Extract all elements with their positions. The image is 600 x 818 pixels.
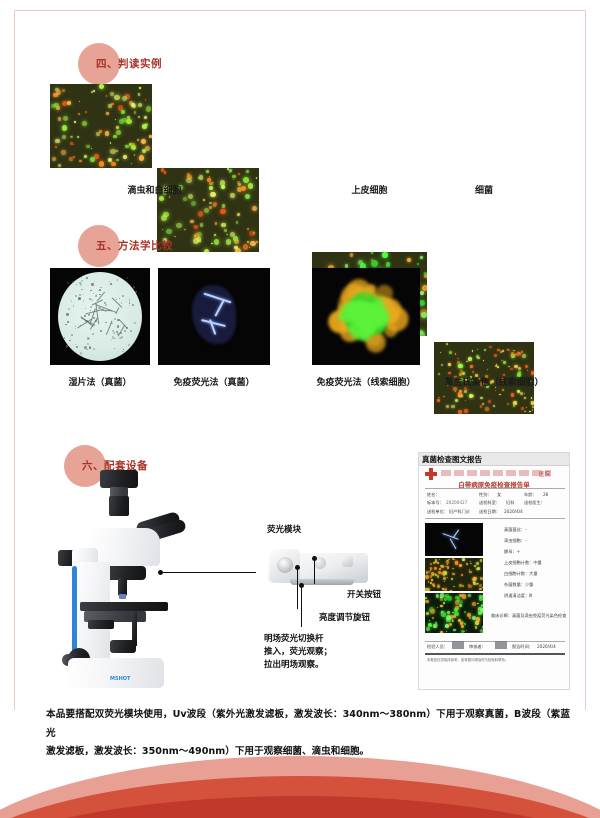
micrograph-particle <box>447 577 448 578</box>
micrograph-particle <box>475 626 478 629</box>
micrograph-particle <box>420 291 424 295</box>
micrograph-particle <box>110 92 114 96</box>
callout-line-power <box>314 558 315 584</box>
micrograph-particle <box>440 605 442 607</box>
report-header-title: 真菌检查图文报告 <box>419 453 569 466</box>
micrograph-particle <box>256 241 259 244</box>
report-result-row: 滴虫细胞：- <box>504 538 526 544</box>
micrograph-particle <box>461 630 464 633</box>
micrograph-particle <box>247 228 249 230</box>
micrograph-particle <box>479 584 481 586</box>
micrograph-particle <box>477 603 478 604</box>
wetmount-debris <box>71 301 72 302</box>
micrograph-particle <box>480 559 483 562</box>
caption-trichomonas-wbc: 滴虫和白细胞 <box>50 183 259 196</box>
micrograph-particle <box>487 369 488 370</box>
micrograph-particle <box>93 90 95 92</box>
micrograph-particle <box>420 256 423 259</box>
micrograph-particle <box>62 125 67 130</box>
report-divider-thick <box>425 653 565 655</box>
micrograph-particle <box>203 199 205 201</box>
module-lens-icon <box>277 557 293 573</box>
micrograph-particle <box>461 574 463 576</box>
wetmount-debris <box>133 284 134 285</box>
micrograph-particle <box>119 119 124 124</box>
micrograph-particle <box>430 609 435 614</box>
micrograph-particle <box>86 145 89 148</box>
micrograph-particle <box>480 405 482 407</box>
micrograph-particle <box>466 630 467 631</box>
micrograph-particle <box>84 155 87 158</box>
report-result-row: 上皮细胞计数：中量 <box>504 560 542 566</box>
micrograph-particle <box>476 622 478 624</box>
micrograph-particle <box>502 389 504 391</box>
micrograph-particle <box>358 260 363 265</box>
micrograph-particle <box>451 578 453 580</box>
wetmount-debris <box>110 283 112 285</box>
micrograph-particle <box>468 594 471 597</box>
wetmount-debris <box>92 333 94 335</box>
micrograph-particle <box>450 590 452 591</box>
report-result-row: 真菌菌丝：- <box>504 527 526 533</box>
micrograph-particle <box>131 145 136 150</box>
micrograph-particle <box>469 617 471 619</box>
micrograph-particle <box>232 175 236 179</box>
wetmount-debris <box>129 302 130 303</box>
hospital-name-redacted <box>441 470 551 476</box>
caption-gram-clue-cell: 革兰氏染色（线索细胞） <box>428 375 560 388</box>
wetmount-debris <box>114 338 116 340</box>
micrograph-particle <box>449 351 452 354</box>
micrograph-particle <box>438 397 440 399</box>
wetmount-debris <box>116 331 118 333</box>
micrograph-particle <box>425 597 427 599</box>
micrograph-particle <box>111 162 115 166</box>
micrograph-wetmount-fungus <box>50 268 150 365</box>
micrograph-particle <box>116 159 119 162</box>
micrograph-particle <box>488 400 491 403</box>
micrograph-particle <box>426 627 431 632</box>
micrograph-particle <box>515 354 516 355</box>
section-header-5: 五、方法学比较 <box>96 238 173 253</box>
micrograph-particle <box>441 364 443 366</box>
report-field-label: 性别： <box>479 492 492 498</box>
micrograph-trichomonas-wbc-1 <box>50 84 152 168</box>
wetmount-field <box>58 272 142 361</box>
wetmount-debris <box>78 297 81 300</box>
micrograph-particle <box>67 101 71 105</box>
micrograph-particle <box>198 211 204 217</box>
micrograph-particle <box>58 117 61 120</box>
micrograph-particle <box>243 177 249 183</box>
micrograph-particle <box>480 397 482 399</box>
report-footer-label: 检验人员： <box>427 644 448 650</box>
micrograph-particle <box>484 349 486 351</box>
micrograph-particle <box>482 587 483 588</box>
micrograph-particle <box>511 352 515 356</box>
micrograph-particle <box>58 164 61 167</box>
micrograph-particle <box>247 241 249 243</box>
micrograph-particle <box>462 594 466 598</box>
wetmount-debris <box>123 349 124 350</box>
wetmount-debris <box>114 348 115 349</box>
micrograph-particle <box>106 95 107 96</box>
micrograph-particle <box>110 142 111 143</box>
micrograph-particle <box>437 575 440 578</box>
micrograph-particle <box>531 397 533 399</box>
micrograph-particle <box>455 353 457 355</box>
micrograph-particle <box>220 209 225 214</box>
microscope-objective-tip <box>119 594 126 599</box>
wetmount-debris <box>100 330 102 332</box>
micrograph-particle <box>446 631 448 633</box>
micrograph-particle <box>468 389 469 390</box>
micrograph-particle <box>69 157 72 160</box>
wetmount-debris <box>122 295 124 297</box>
micrograph-particle <box>433 585 435 587</box>
micrograph-particle <box>142 149 147 154</box>
micrograph-particle <box>465 400 466 401</box>
micrograph-particle <box>459 564 462 567</box>
report-result-row: 酵母：+ <box>504 549 520 555</box>
micrograph-particle <box>452 620 454 622</box>
micrograph-particle <box>371 260 378 267</box>
micrograph-particle <box>447 566 449 568</box>
micrograph-particle <box>489 346 491 348</box>
callout-line-lever <box>301 585 302 627</box>
micrograph-particle <box>476 617 480 621</box>
wetmount-debris <box>72 281 74 283</box>
micrograph-particle <box>443 574 445 576</box>
micrograph-particle <box>439 568 441 570</box>
micrograph-particle <box>468 357 472 361</box>
micrograph-particle <box>190 220 193 223</box>
report-result-row: 杂菌数量：少量 <box>504 582 533 588</box>
micrograph-particle <box>499 394 501 396</box>
micrograph-particle <box>145 99 146 100</box>
micrograph-particle <box>503 361 506 364</box>
micrograph-particle <box>139 155 144 160</box>
micrograph-particle <box>445 624 449 628</box>
wetmount-debris <box>112 330 113 331</box>
microscope-stage <box>80 602 168 611</box>
micrograph-particle <box>126 119 131 124</box>
report-comment: 临床诊断：真菌及滴虫免疫荧光染色检查 <box>491 613 566 619</box>
wetmount-debris <box>80 352 83 355</box>
module-power-switch <box>342 556 353 567</box>
micrograph-particle <box>459 364 463 368</box>
micrograph-particle <box>430 567 433 570</box>
wetmount-debris <box>124 330 126 332</box>
micrograph-if-clue-cell <box>312 268 420 365</box>
wetmount-debris <box>122 351 123 352</box>
micrograph-particle <box>134 154 135 155</box>
micrograph-particle <box>350 253 353 256</box>
micrograph-particle <box>521 407 524 410</box>
micrograph-particle <box>85 111 87 113</box>
micrograph-particle <box>121 110 125 114</box>
wetmount-debris <box>76 284 77 285</box>
micrograph-particle <box>482 626 483 628</box>
micrograph-particle <box>449 623 453 627</box>
micrograph-particle <box>145 146 150 151</box>
micrograph-particle <box>464 611 465 612</box>
micrograph-particle <box>73 144 74 145</box>
micrograph-particle <box>144 116 147 119</box>
micrograph-particle <box>457 358 459 360</box>
lever-label-line1: 明场荧光切换杆 <box>264 633 332 646</box>
micrograph-particle <box>99 84 104 89</box>
micrograph-particle <box>511 393 515 397</box>
micrograph-particle <box>495 390 496 391</box>
micrograph-particle <box>524 397 526 399</box>
micrograph-particle <box>455 561 458 564</box>
micrograph-particle <box>444 598 447 601</box>
micrograph-particle <box>91 148 92 149</box>
micrograph-particle <box>176 223 182 229</box>
micrograph-particle <box>250 241 256 247</box>
report-result-row: 白细胞计数：大量 <box>504 571 538 577</box>
micrograph-particle <box>479 597 483 601</box>
micrograph-particle <box>55 139 59 143</box>
wetmount-debris <box>99 289 101 291</box>
wetmount-debris <box>67 321 68 322</box>
micrograph-particle <box>476 562 479 565</box>
callout-line-brightness <box>297 567 298 609</box>
micrograph-particle <box>493 405 495 407</box>
micrograph-particle <box>99 130 102 133</box>
micrograph-particle <box>440 565 441 566</box>
micrograph-particle <box>126 145 127 146</box>
wetmount-debris <box>93 348 95 350</box>
micrograph-particle <box>187 173 190 176</box>
micrograph-particle <box>166 229 172 235</box>
micrograph-particle <box>532 409 533 410</box>
micrograph-particle <box>431 579 433 581</box>
micrograph-particle <box>510 368 512 370</box>
micrograph-particle <box>211 243 213 245</box>
micrograph-particle <box>444 588 447 591</box>
micrograph-particle <box>507 403 509 405</box>
micrograph-particle <box>468 585 472 589</box>
report-disclaimer: 本报告仅供临床参考，如有疑问请及时与检验科联系。 <box>427 657 508 662</box>
micrograph-particle <box>221 223 225 227</box>
micrograph-particle <box>472 602 476 606</box>
micrograph-particle <box>447 564 448 565</box>
micrograph-particle <box>455 399 458 402</box>
micrograph-particle <box>74 121 76 123</box>
micrograph-particle <box>115 119 116 120</box>
wetmount-debris <box>112 336 114 338</box>
report-field-label: 年龄： <box>524 492 537 498</box>
micrograph-particle <box>437 399 439 401</box>
wetmount-debris <box>79 282 81 284</box>
micrograph-particle <box>485 407 488 410</box>
micrograph-particle <box>446 405 449 408</box>
micrograph-particle <box>436 594 438 596</box>
micrograph-particle <box>441 612 446 617</box>
micrograph-particle <box>204 249 209 252</box>
micrograph-particle <box>55 146 57 148</box>
report-micrograph-bacteria <box>425 558 483 591</box>
caption-bacteria: 细菌 <box>434 183 534 196</box>
micrograph-particle <box>461 625 464 628</box>
micrograph-particle <box>452 558 454 560</box>
micrograph-particle <box>514 365 518 369</box>
report-micrograph-if-fungus <box>425 523 483 556</box>
report-field-label: 送检医生： <box>524 500 545 506</box>
micrograph-particle <box>459 604 462 607</box>
caption-if-fungus: 免疫荧光法（真菌） <box>152 375 276 388</box>
micrograph-particle <box>138 103 142 107</box>
micrograph-particle <box>206 170 209 173</box>
micrograph-particle <box>469 394 473 398</box>
micrograph-particle <box>162 229 163 230</box>
micrograph-particle <box>382 252 387 257</box>
caption-epithelial-cells: 上皮细胞 <box>312 183 427 196</box>
callout-label-power: 开关按钮 <box>347 589 381 602</box>
report-panel-header: 真菌检查图文报告 <box>419 453 569 466</box>
micrograph-particle <box>453 586 454 587</box>
micrograph-particle <box>525 365 528 368</box>
callout-label-brightness: 亮度调节旋钮 <box>319 612 370 625</box>
micrograph-particle <box>434 567 437 570</box>
micrograph-particle <box>440 598 443 601</box>
micrograph-particle <box>78 113 80 115</box>
micrograph-particle <box>447 611 450 614</box>
micrograph-particle <box>213 202 217 206</box>
micrograph-particle <box>249 231 255 237</box>
micrograph-particle <box>425 575 429 579</box>
micrograph-particle <box>256 177 258 179</box>
micrograph-particle <box>448 372 450 374</box>
report-footer-label: 审核者： <box>469 644 486 650</box>
micrograph-particle <box>70 142 72 144</box>
microscope-condenser <box>110 640 136 653</box>
micrograph-particle <box>480 629 483 633</box>
micrograph-particle <box>116 130 121 135</box>
micrograph-particle <box>99 161 104 166</box>
micrograph-particle <box>163 212 169 218</box>
micrograph-particle <box>459 600 463 604</box>
micrograph-particle <box>432 617 434 619</box>
micrograph-particle <box>227 168 229 170</box>
micrograph-particle <box>200 223 203 226</box>
micrograph-particle <box>477 567 480 570</box>
micrograph-particle <box>524 411 526 413</box>
report-field-value: 妇产科门诊 <box>449 509 470 515</box>
micrograph-particle <box>428 623 432 627</box>
micrograph-particle <box>454 612 459 617</box>
wetmount-debris <box>133 286 135 288</box>
micrograph-particle <box>437 607 438 608</box>
micrograph-particle <box>439 559 440 560</box>
micrograph-particle <box>520 392 523 395</box>
micrograph-particle <box>421 312 427 318</box>
report-divider <box>425 488 565 489</box>
micrograph-particle <box>455 600 459 604</box>
micrograph-particle <box>472 371 474 373</box>
micrograph-particle <box>224 229 227 232</box>
wetmount-debris <box>119 298 120 299</box>
wetmount-debris <box>86 277 88 279</box>
micrograph-particle <box>183 197 187 201</box>
micrograph-particle <box>474 565 476 567</box>
micrograph-particle <box>238 173 240 175</box>
report-field-label: 送检单位： <box>427 509 448 515</box>
micrograph-particle <box>433 562 435 564</box>
micrograph-particle <box>454 559 455 560</box>
frame-line-top <box>14 10 586 11</box>
micrograph-particle <box>193 238 199 244</box>
micrograph-particle <box>149 135 152 138</box>
wetmount-debris <box>117 325 119 327</box>
micrograph-particle <box>521 351 522 352</box>
micrograph-particle <box>116 150 118 152</box>
micrograph-particle <box>424 272 427 275</box>
micrograph-particle <box>236 221 239 224</box>
wetmount-debris <box>90 290 91 291</box>
callout-label-lever: 明场荧光切换杆 推入，荧光观察； 拉出明场观察。 <box>264 633 332 673</box>
micrograph-if-fungus <box>158 268 270 365</box>
micrograph-particle <box>141 139 146 144</box>
micrograph-particle <box>137 139 139 141</box>
report-field-label: 送检科室： <box>479 500 500 506</box>
frame-line-right <box>585 10 586 710</box>
micrograph-particle <box>531 401 534 404</box>
wetmount-debris <box>82 294 83 295</box>
micrograph-particle <box>56 90 61 95</box>
micrograph-particle <box>494 354 497 357</box>
micrograph-particle <box>518 367 521 370</box>
micrograph-particle <box>123 155 127 159</box>
lever-label-line3: 拉出明场观察。 <box>264 659 332 672</box>
caption-if-clue-cell: 免疫荧光法（线索细胞） <box>300 375 432 388</box>
micrograph-particle <box>422 285 427 291</box>
micrograph-particle <box>507 349 509 351</box>
micrograph-particle <box>114 95 119 100</box>
caption-wetmount-fungus: 湿片法（真菌） <box>50 375 150 388</box>
wetmount-debris <box>75 295 77 297</box>
section-title-4: 四、判读实例 <box>96 56 162 71</box>
report-footer-value: 2020/4/4 <box>537 644 556 649</box>
micrograph-particle <box>529 411 531 413</box>
micrograph-particle <box>386 262 390 266</box>
wetmount-debris <box>66 313 68 315</box>
micrograph-particle <box>464 623 466 625</box>
micrograph-particle <box>407 258 411 262</box>
micrograph-particle <box>54 103 59 108</box>
micrograph-particle <box>134 111 137 114</box>
micrograph-particle <box>446 343 447 344</box>
micrograph-particle <box>448 363 451 366</box>
micrograph-particle <box>62 135 66 139</box>
micrograph-particle <box>142 124 147 129</box>
micrograph-particle <box>464 390 468 394</box>
wetmount-debris <box>87 343 89 345</box>
micrograph-particle <box>371 252 373 254</box>
report-filament <box>453 529 460 538</box>
module-label: 荧光模块 <box>267 524 301 537</box>
micrograph-particle <box>443 396 445 398</box>
micrograph-particle <box>522 350 523 351</box>
wetmount-debris <box>93 293 94 294</box>
wetmount-debris <box>128 344 130 346</box>
micrograph-particle <box>252 206 257 211</box>
micrograph-particle <box>482 602 483 603</box>
micrograph-particle <box>470 563 472 565</box>
micrograph-particle <box>482 403 484 405</box>
